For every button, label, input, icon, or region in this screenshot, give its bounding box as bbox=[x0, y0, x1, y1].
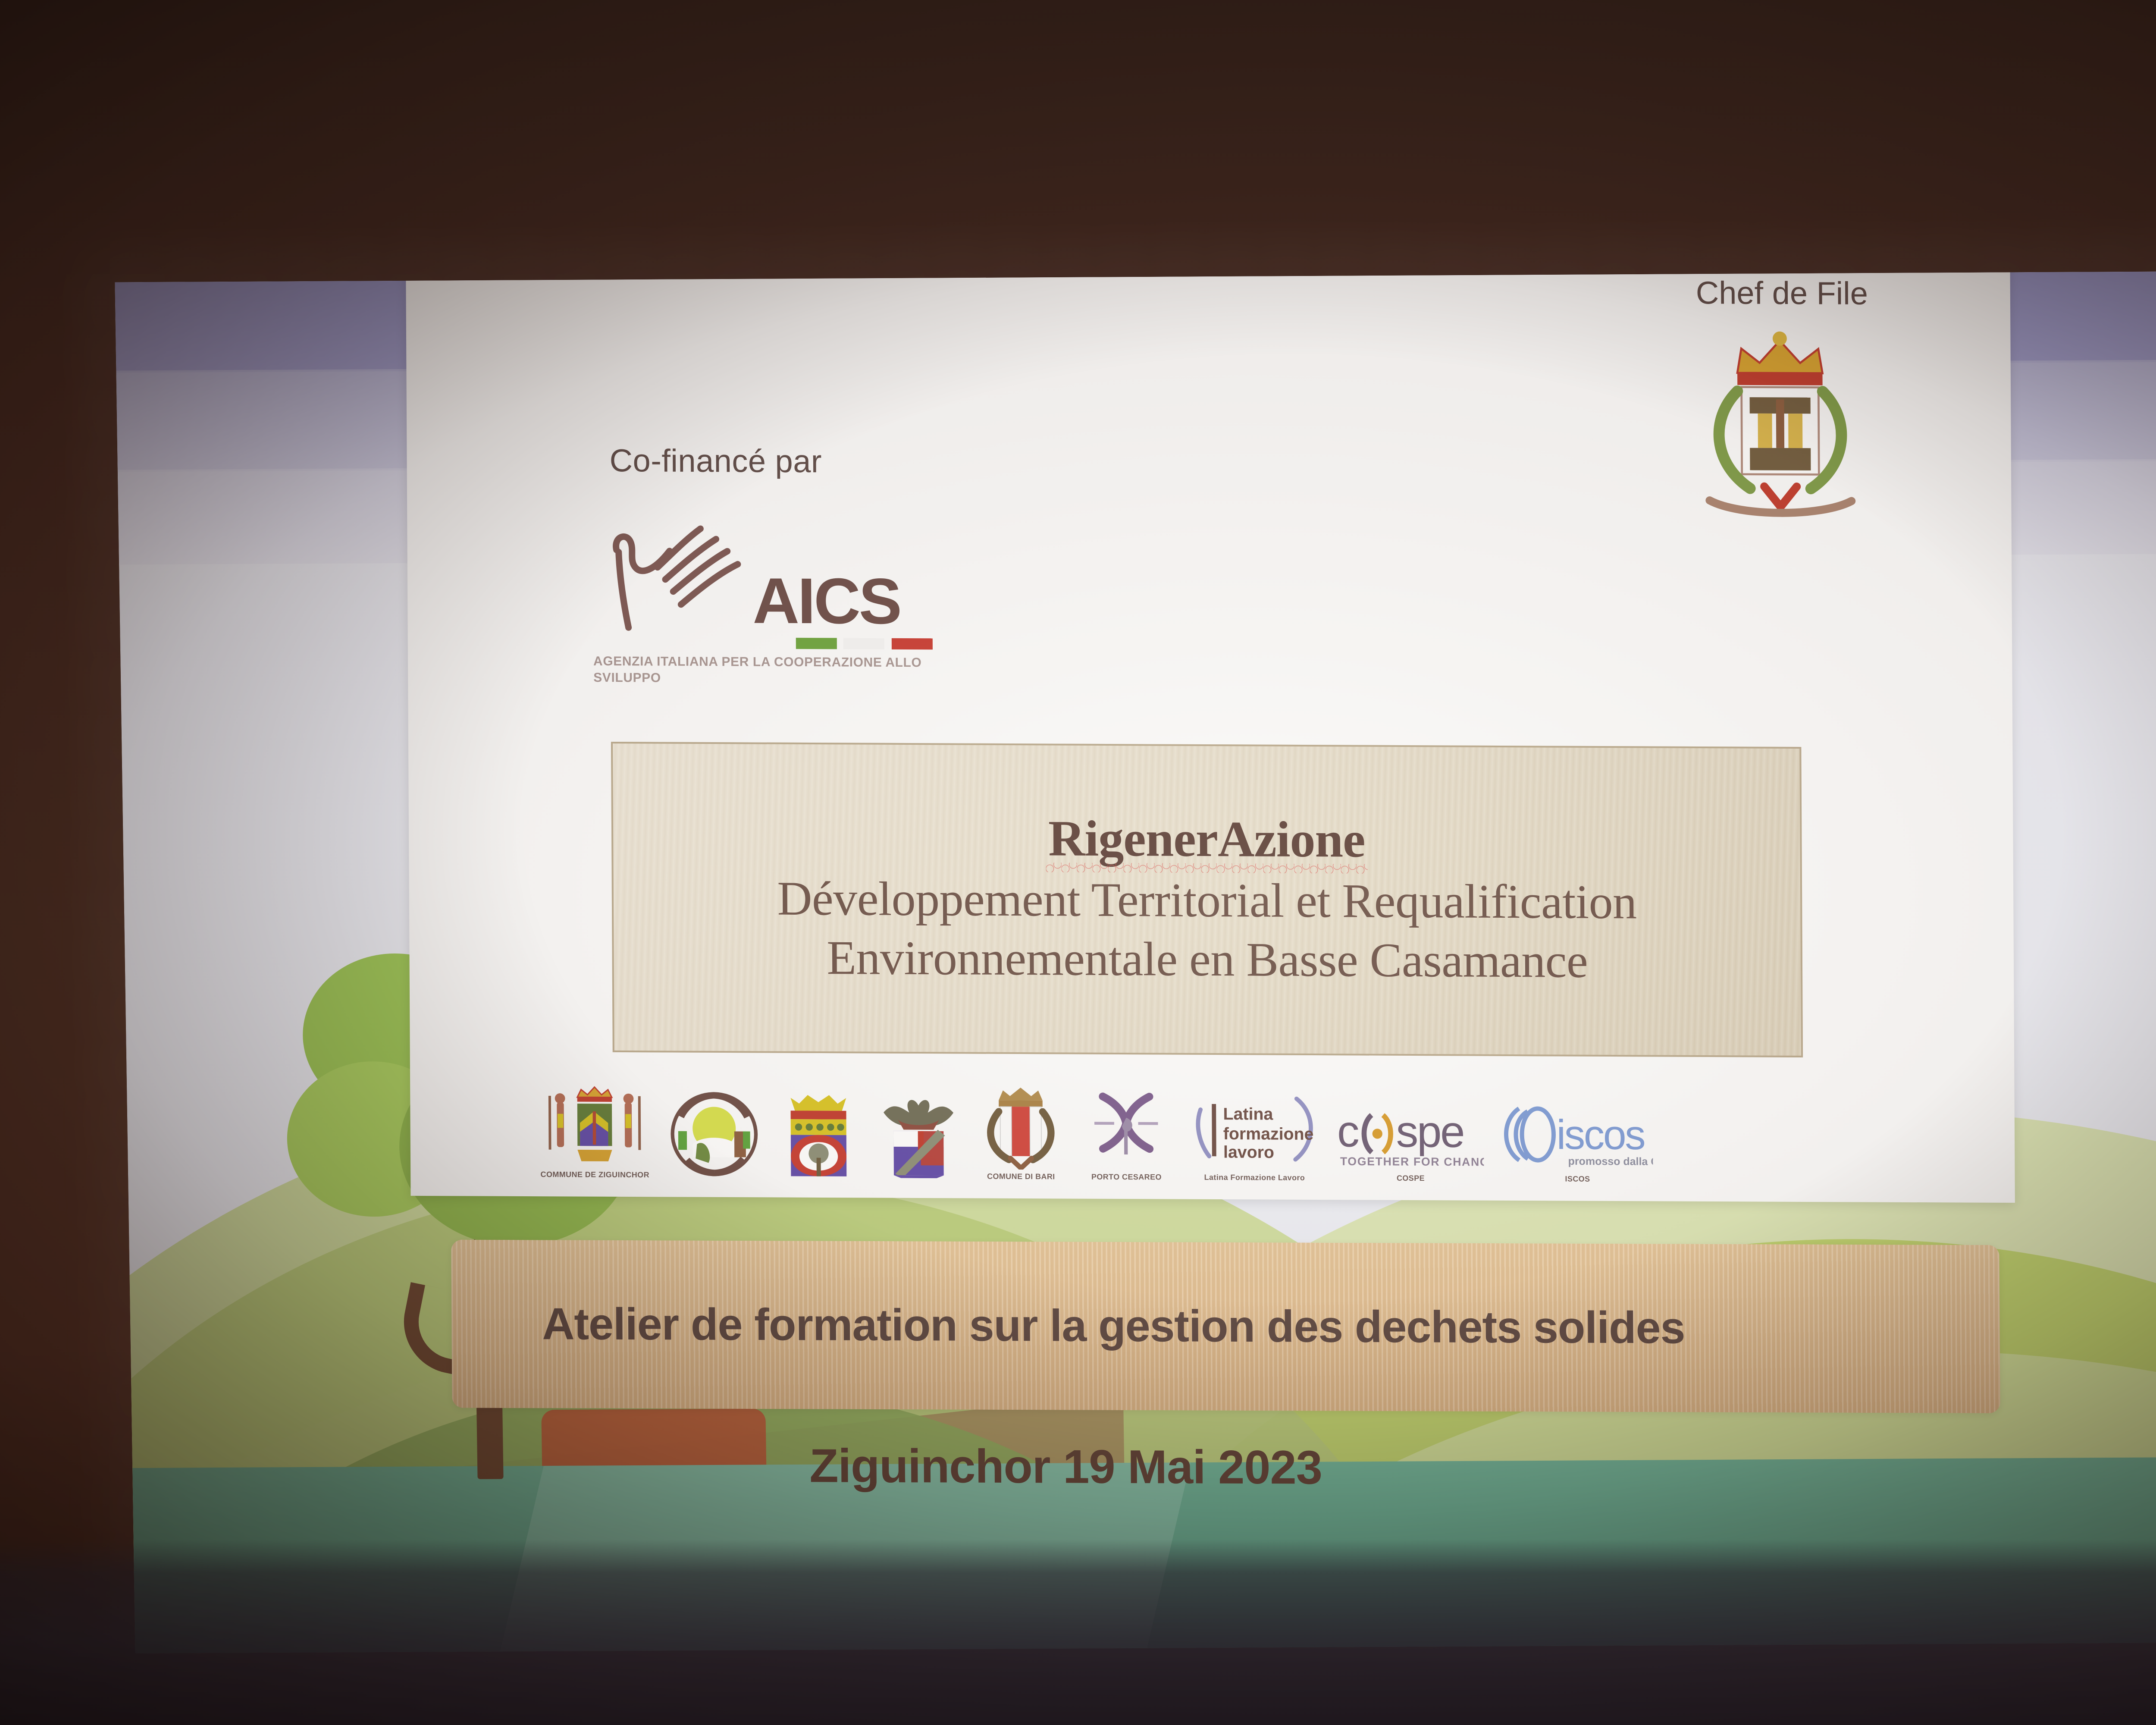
lead-partner-label: Chef de File bbox=[1696, 274, 1868, 312]
presentation-slide: Co-financé par bbox=[115, 270, 2156, 1653]
svg-text:c: c bbox=[1337, 1106, 1359, 1156]
partner-logo-porto-cesareo: PORTO CESAREO bbox=[1081, 1082, 1172, 1182]
partner-logo-commune-oussouye bbox=[667, 1080, 761, 1180]
partner-caption: ISCOS bbox=[1565, 1175, 1590, 1184]
svg-text:spe: spe bbox=[1396, 1106, 1463, 1157]
aics-logo: AICS AGENZIA ITALIANA PER LA COOPERAZION… bbox=[592, 515, 981, 703]
partner-caption: COMMUNE DE ZIGUINCHOR bbox=[540, 1170, 649, 1179]
svg-text:lavoro: lavoro bbox=[1223, 1143, 1274, 1162]
comune-tree-crest-icon bbox=[778, 1094, 859, 1178]
partner-logo-cospe: c spe TOGETHER FOR CHANGE COSPE bbox=[1337, 1083, 1484, 1183]
partner-logo-iscos: iscos promosso dalla CISL ISCOS bbox=[1501, 1084, 1653, 1184]
svg-text:promosso dalla CISL: promosso dalla CISL bbox=[1568, 1155, 1653, 1168]
svg-text:formazione: formazione bbox=[1223, 1124, 1314, 1144]
iscos-logo-icon: iscos promosso dalla CISL bbox=[1502, 1103, 1653, 1173]
workshop-title-banner: Atelier de formation sur la gestion des … bbox=[451, 1240, 2000, 1413]
project-title-box: RigenerAzione Développement Territorial … bbox=[611, 742, 1803, 1057]
project-name-text: RigenerAzione bbox=[1048, 810, 1365, 868]
aics-dove-hand-icon bbox=[592, 520, 765, 637]
comune-eagle-crest-icon bbox=[876, 1094, 961, 1179]
cofinance-label: Co-financé par bbox=[609, 442, 822, 480]
projection-screen: Co-financé par bbox=[115, 270, 2156, 1653]
partner-logo-commune-ziguinchor: COMMUNE DE ZIGUINCHOR bbox=[539, 1080, 650, 1179]
latina-formazione-lavoro-logo-icon: Latina formazione lavoro bbox=[1189, 1088, 1319, 1171]
partner-logo-comune-eagle bbox=[876, 1082, 961, 1181]
aics-wordmark: AICS bbox=[752, 563, 900, 638]
svg-text:Latina: Latina bbox=[1223, 1104, 1273, 1124]
cospe-logo-icon: c spe TOGETHER FOR CHANGE bbox=[1337, 1102, 1484, 1171]
foreground-shadow-band bbox=[0, 1540, 2156, 1725]
partner-caption: PORTO CESAREO bbox=[1091, 1173, 1162, 1182]
project-name: RigenerAzione bbox=[1048, 809, 1365, 869]
partner-caption: COMUNE DI BARI bbox=[987, 1172, 1055, 1182]
workshop-title-text: Atelier de formation sur la gestion des … bbox=[451, 1298, 1685, 1354]
partner-logo-comune-tree bbox=[778, 1081, 859, 1181]
commune-ziguinchor-crest-icon bbox=[539, 1085, 650, 1168]
flag-green bbox=[796, 638, 837, 649]
project-subtitle-line-1: Développement Territorial et Requalifica… bbox=[777, 869, 1637, 932]
slide-content-card: Co-financé par bbox=[406, 270, 2015, 1203]
partner-logo-latina-formazione-lavoro: Latina formazione lavoro Latina Formazio… bbox=[1189, 1083, 1319, 1182]
flag-white bbox=[843, 638, 884, 649]
comune-di-bari-crest-icon bbox=[978, 1088, 1063, 1170]
svg-text:iscos: iscos bbox=[1556, 1111, 1644, 1158]
italian-flag-icon bbox=[796, 638, 938, 649]
svg-text:TOGETHER FOR CHANGE: TOGETHER FOR CHANGE bbox=[1340, 1155, 1484, 1169]
porto-cesareo-logo-icon bbox=[1081, 1088, 1172, 1170]
lead-crest-icon bbox=[1678, 326, 1882, 530]
spellcheck-underline-icon bbox=[1046, 863, 1368, 874]
partner-caption: Latina Formazione Lavoro bbox=[1204, 1173, 1305, 1182]
partner-caption: COSPE bbox=[1397, 1174, 1425, 1183]
event-date-location: Ziguinchor 19 Mai 2023 bbox=[809, 1438, 1845, 1496]
aics-tagline: AGENZIA ITALIANA PER LA COOPERAZIONE ALL… bbox=[593, 653, 973, 687]
partner-logo-comune-di-bari: COMUNE DI BARI bbox=[978, 1082, 1063, 1182]
room-background: Co-financé par bbox=[0, 0, 2156, 1725]
project-subtitle-line-2: Environnementale en Basse Casamance bbox=[827, 928, 1588, 991]
commune-oussouye-seal-icon bbox=[667, 1091, 761, 1177]
partner-logos-row: COMMUNE DE ZIGUINCHOR bbox=[539, 1080, 1955, 1185]
flag-red bbox=[892, 638, 933, 649]
